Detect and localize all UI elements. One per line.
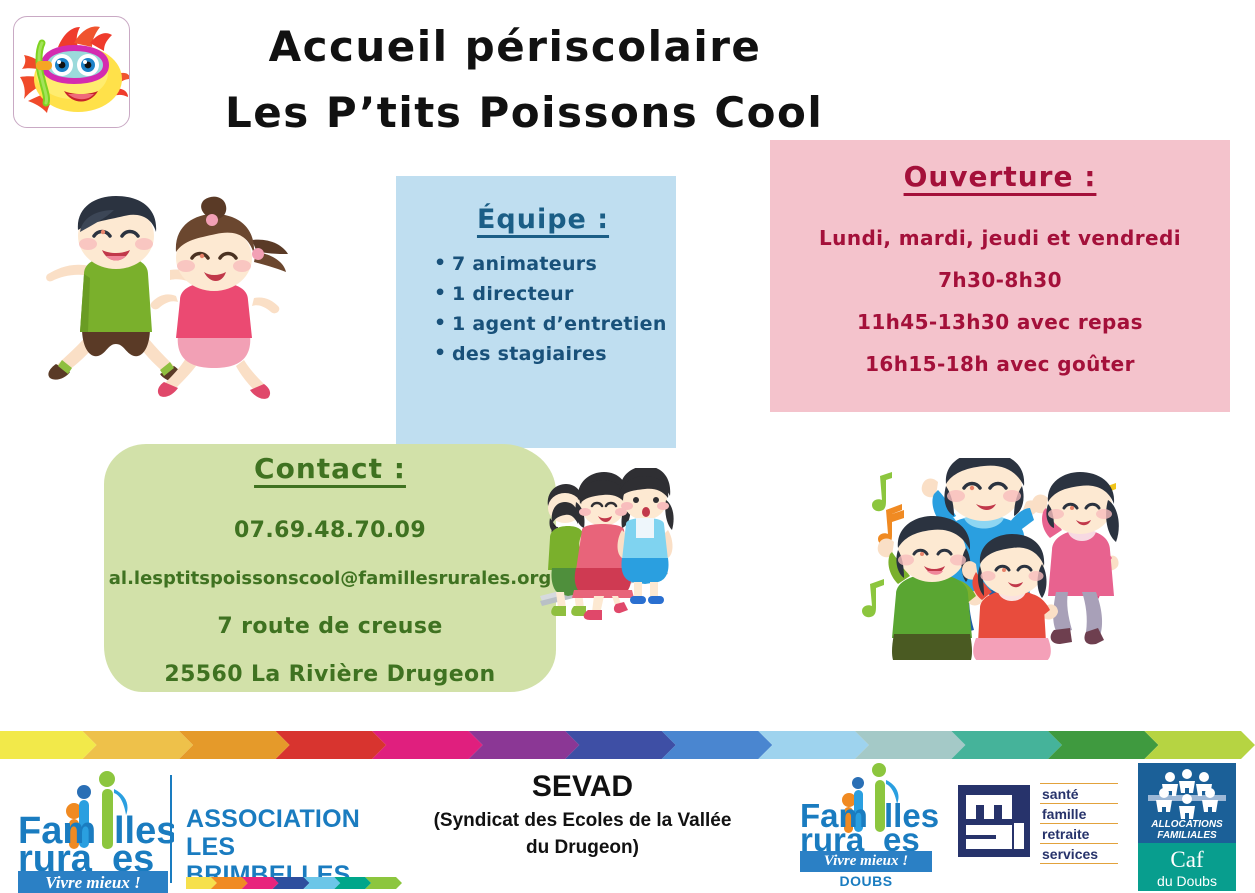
chevron-segment — [186, 877, 217, 889]
msa-logo: santé famille retraite services — [958, 785, 1118, 857]
fish-logo-card — [13, 16, 130, 128]
contact-email[interactable]: al.lesptitspoissonscool@famillesrurales.… — [104, 555, 556, 603]
logo-divider — [170, 775, 172, 883]
music-note-icon — [862, 579, 884, 617]
footer-logos: Fam lles rura es Vivre mieux ! ASSOCIATI… — [0, 759, 1255, 893]
music-note-icon — [872, 472, 892, 511]
vivre-mieux-tagline: Vivre mieux ! — [18, 871, 168, 893]
contact-heading: Contact : — [104, 452, 556, 485]
equipe-item-0: 7 animateurs — [434, 249, 674, 279]
poster-root: Accueil périscolaire Les P’tits Poissons… — [0, 0, 1255, 893]
chevron-segment — [179, 731, 290, 759]
dancing-children-illustration — [858, 458, 1124, 660]
figure-head-blue — [77, 785, 91, 799]
ouverture-line-0: Lundi, mardi, jeudi et vendredi — [790, 217, 1210, 259]
equipe-item-1: 1 directeur — [434, 279, 674, 309]
msa-word-1: famille — [1040, 803, 1118, 823]
familles-rurales-mark: Fam lles rura es — [14, 767, 174, 887]
msa-word-3: services — [1040, 843, 1118, 864]
caf-family-figures-icon — [1138, 765, 1236, 823]
figure-head-green — [99, 771, 115, 787]
chevron-segment — [276, 731, 387, 759]
poster-title: Accueil périscolaire Les P’tits Poissons… — [225, 14, 805, 146]
jumping-children-illustration — [20, 188, 312, 410]
caf-logo-bottom: Caf du Doubs — [1138, 843, 1236, 891]
association-mini-chevron-band — [186, 877, 402, 889]
ouverture-heading: Ouverture : — [790, 160, 1210, 193]
equipe-heading: Équipe : — [412, 204, 674, 235]
familles-rurales-doubs-logo: Fam lles rura es Vivre mieux ! DOUBS — [798, 761, 938, 891]
msa-word-2: retraite — [1040, 823, 1118, 843]
footer-chevron-band — [0, 731, 1255, 759]
chevron-segment — [758, 731, 869, 759]
chevron-segment — [83, 731, 194, 759]
chevron-segment — [0, 731, 97, 759]
familles-rurales-logo: Fam lles rura es Vivre mieux ! — [14, 767, 174, 887]
contact-city: 25560 La Rivière Drugeon — [104, 651, 556, 699]
fish-with-diving-mask-icon — [14, 17, 130, 128]
equipe-section: Équipe : 7 animateurs 1 directeur 1 agen… — [412, 204, 674, 369]
contact-phone[interactable]: 07.69.48.70.09 — [104, 507, 556, 555]
vivre-mieux-tagline-doubs: Vivre mieux ! — [800, 851, 932, 872]
ouverture-section: Ouverture : Lundi, mardi, jeudi et vendr… — [790, 160, 1210, 385]
chevron-segment — [951, 731, 1062, 759]
caf-logo: ALLOCATIONS FAMILIALES Caf du Doubs — [1138, 763, 1236, 887]
equipe-item-2: 1 agent d’entretien — [434, 309, 674, 339]
chevron-segment — [662, 731, 773, 759]
chevron-segment — [1144, 731, 1255, 759]
caf-label-line-2: FAMILIALES — [1138, 830, 1236, 842]
sevad-block: SEVAD (Syndicat des Ecoles de la Vallée … — [420, 767, 745, 861]
chevron-segment — [855, 731, 966, 759]
msa-word-0: santé — [1040, 783, 1118, 803]
contact-section: Contact : 07.69.48.70.09 al.lesptitspois… — [104, 452, 556, 699]
chevron-segment — [1048, 731, 1159, 759]
contact-street: 7 route de creuse — [104, 603, 556, 651]
caf-sub: du Doubs — [1138, 873, 1236, 889]
ouverture-line-1: 7h30-8h30 — [790, 259, 1210, 301]
msa-mark — [958, 785, 1030, 857]
sevad-subtitle: (Syndicat des Ecoles de la Vallée du Dru… — [420, 807, 745, 861]
equipe-item-3: des stagiaires — [434, 339, 674, 369]
ouverture-line-3: 16h15-18h avec goûter — [790, 343, 1210, 385]
equipe-list: 7 animateurs 1 directeur 1 agent d’entre… — [412, 249, 674, 369]
msa-words: santé famille retraite services — [1040, 783, 1118, 864]
children-balance-beam-illustration — [538, 468, 680, 620]
caf-name: Caf — [1138, 843, 1236, 873]
caf-logo-top: ALLOCATIONS FAMILIALES — [1138, 763, 1236, 843]
ouverture-line-2: 11h45-13h30 avec repas — [790, 301, 1210, 343]
doubs-department-label: DOUBS — [800, 873, 932, 889]
familles-rurales-doubs-mark: Fam lles rura es — [798, 761, 938, 865]
title-line-2: Les P’tits Poissons Cool — [225, 80, 805, 146]
chevron-segment — [372, 731, 483, 759]
chevron-segment — [565, 731, 676, 759]
title-line-1: Accueil périscolaire — [225, 14, 805, 80]
chevron-segment — [469, 731, 580, 759]
sevad-title: SEVAD — [420, 767, 745, 807]
association-line-1: ASSOCIATION — [186, 805, 406, 833]
